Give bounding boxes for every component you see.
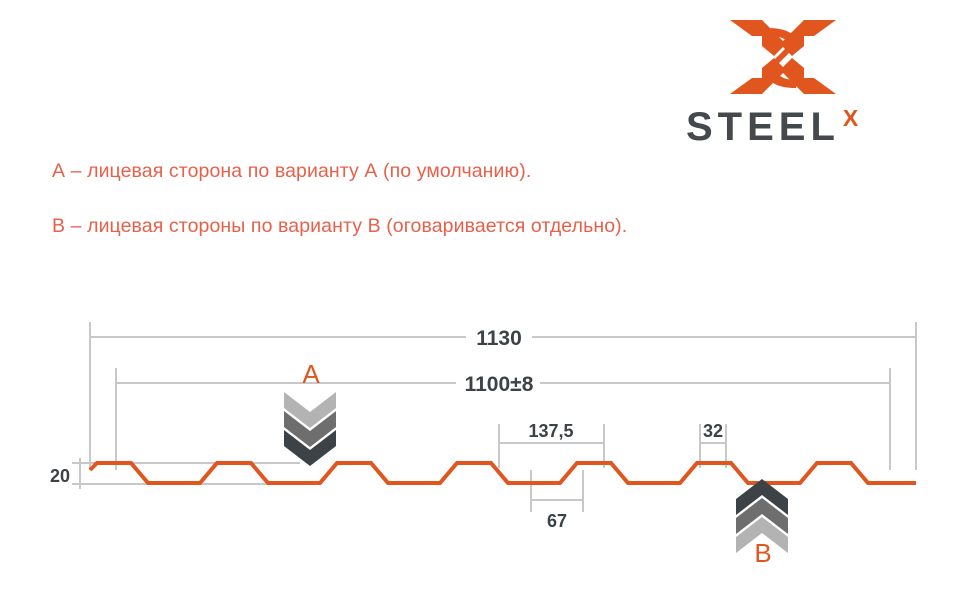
dim-label-trough-width: 67: [547, 511, 567, 531]
dim-label-overall-width: 1130: [476, 327, 522, 350]
dim-label-rib-pitch: 137,5: [528, 421, 573, 441]
dim-label-profile-height: 20: [50, 466, 70, 486]
side-a-letter: А: [291, 359, 331, 390]
trapezoidal-profile-outline: [90, 463, 916, 483]
side-b-letter: В: [743, 538, 783, 569]
profile-technical-drawing: 1130 1100±8 137,5 32 67 20: [0, 0, 970, 597]
dim-label-crest-width: 32: [703, 421, 723, 441]
dim-label-cover-width: 1100±8: [465, 373, 534, 396]
side-a-marker: [284, 392, 336, 466]
